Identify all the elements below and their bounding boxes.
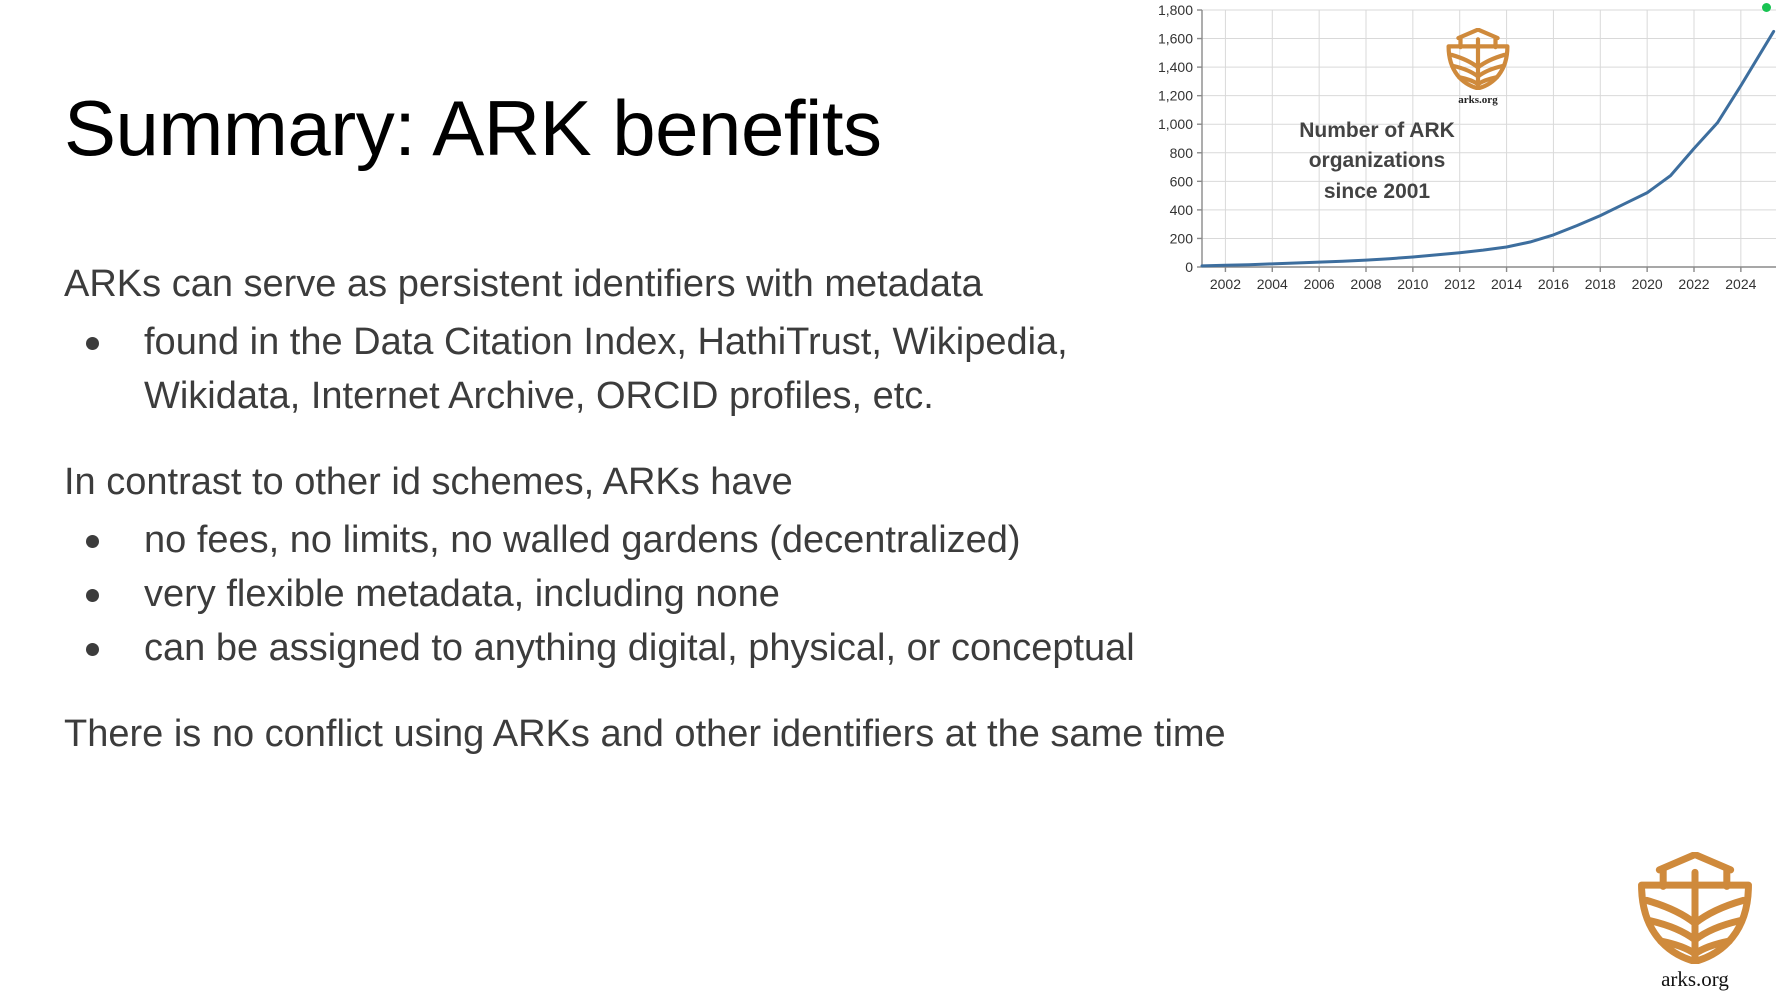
arks-logo-caption: arks.org [1620,967,1770,992]
chart-annotation-line-3: since 2001 [1262,177,1492,207]
ark-boat-icon [1620,852,1770,964]
green-status-dot-icon [1762,3,1771,12]
intro-paragraph-1: ARKs can serve as persistent identifiers… [64,258,1244,312]
svg-text:2024: 2024 [1725,276,1756,292]
slide-canvas: Summary: ARK benefits ARKs can serve as … [0,0,1782,1004]
chart-annotation: Number of ARK organizations since 2001 [1262,116,1492,207]
list-item: can be assigned to anything digital, phy… [64,622,1244,676]
list-item-label: no fees, no limits, no walled gardens (d… [144,514,1244,568]
svg-text:2004: 2004 [1257,276,1288,292]
bullet-dot-icon [86,337,99,350]
chart-y-axis-labels: 02004006008001,0001,2001,4001,6001,800 [1158,2,1193,275]
chart-annotation-line-1: Number of ARK [1262,116,1492,146]
page-title: Summary: ARK benefits [64,88,882,170]
svg-text:2022: 2022 [1678,276,1709,292]
svg-text:2014: 2014 [1491,276,1522,292]
list-item-label: found in the Data Citation Index, HathiT… [144,316,1164,424]
svg-text:0: 0 [1185,259,1193,275]
svg-text:2020: 2020 [1632,276,1663,292]
bullet-dot-icon [86,643,99,656]
svg-text:2012: 2012 [1444,276,1475,292]
slide-body: ARKs can serve as persistent identifiers… [64,258,1244,762]
svg-text:1,200: 1,200 [1158,88,1193,104]
svg-text:2016: 2016 [1538,276,1569,292]
ark-boat-icon [1443,28,1513,90]
svg-text:1,000: 1,000 [1158,116,1193,132]
closing-paragraph: There is no conflict using ARKs and othe… [64,708,1244,762]
svg-text:2006: 2006 [1304,276,1335,292]
chart-x-axis-labels: 2002200420062008201020122014201620182020… [1210,276,1757,292]
svg-text:2002: 2002 [1210,276,1241,292]
list-item: no fees, no limits, no walled gardens (d… [64,514,1244,568]
svg-text:200: 200 [1170,230,1194,246]
svg-text:800: 800 [1170,145,1194,161]
svg-text:1,400: 1,400 [1158,59,1193,75]
bullet-list-2: no fees, no limits, no walled gardens (d… [64,514,1244,676]
bullet-list-1: found in the Data Citation Index, HathiT… [64,316,1244,424]
intro-paragraph-2: In contrast to other id schemes, ARKs ha… [64,456,1244,510]
svg-text:400: 400 [1170,202,1194,218]
list-item-label: very flexible metadata, including none [144,568,1244,622]
svg-text:2008: 2008 [1350,276,1381,292]
svg-text:2018: 2018 [1585,276,1616,292]
arks-logo-footer: arks.org [1620,852,1770,992]
svg-text:1,600: 1,600 [1158,31,1193,47]
list-item: found in the Data Citation Index, HathiT… [64,316,1244,424]
svg-text:2010: 2010 [1397,276,1428,292]
list-item-label: can be assigned to anything digital, phy… [144,622,1244,676]
list-item: very flexible metadata, including none [64,568,1244,622]
arks-logo-caption: arks.org [1443,94,1513,106]
chart-annotation-line-2: organizations [1262,146,1492,176]
arks-logo-chart: arks.org [1443,28,1513,106]
bullet-dot-icon [86,535,99,548]
svg-text:600: 600 [1170,173,1194,189]
bullet-dot-icon [86,589,99,602]
svg-text:1,800: 1,800 [1158,2,1193,18]
